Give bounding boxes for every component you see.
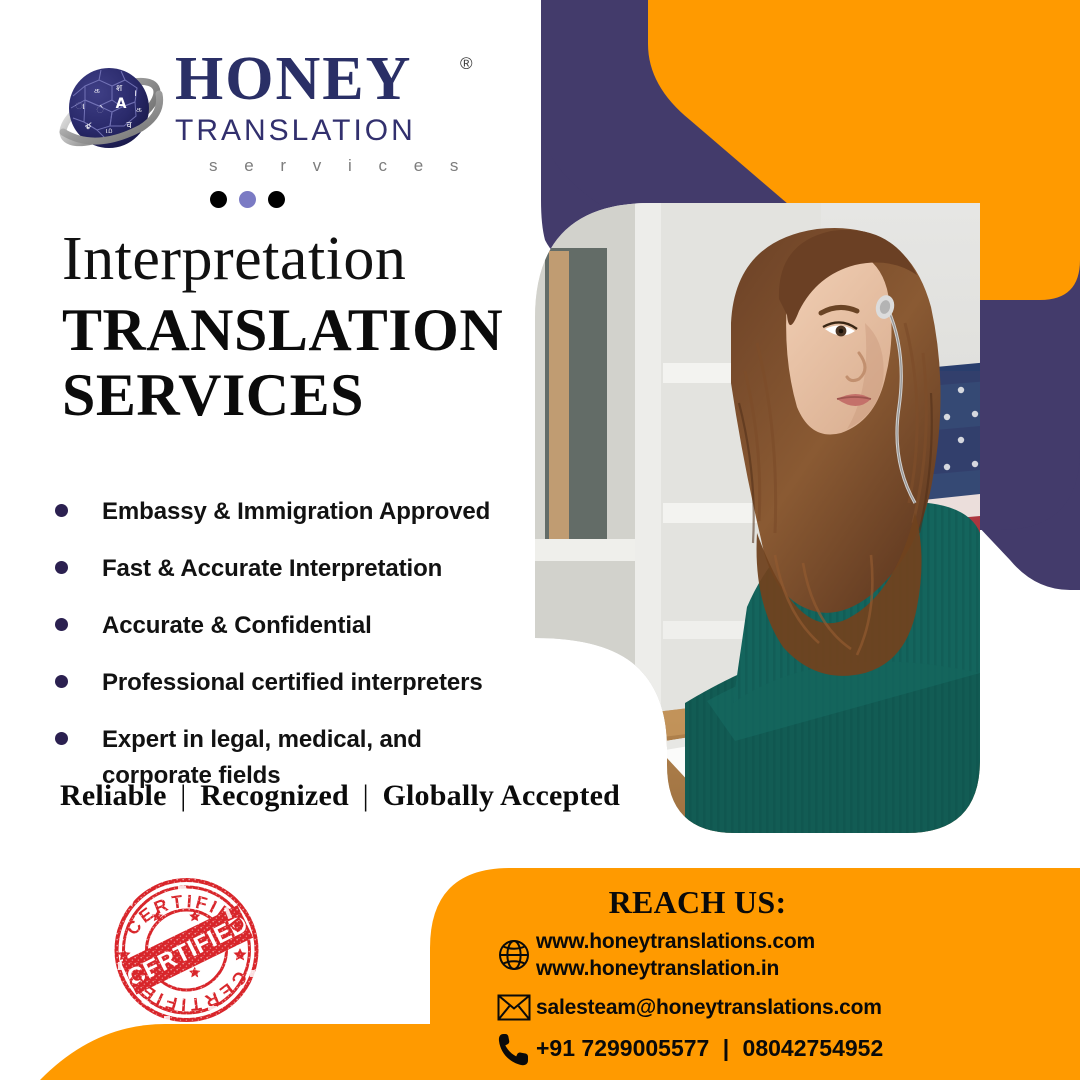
contact-row-phone[interactable]: +91 7299005577 | 08042754952 [492, 1032, 1072, 1066]
contact-row-website[interactable]: www.honeytranslations.com www.honeytrans… [492, 928, 1072, 983]
svg-text:ા: ા [75, 102, 84, 112]
headline-bold-line-2: SERVICES [62, 363, 532, 428]
decorative-dots-row [210, 191, 285, 208]
logo-wordmark: HONEY ® TRANSLATION s e r v i c e s [175, 48, 475, 176]
dot-3 [268, 191, 285, 208]
contact-row-email[interactable]: salesteam@honeytranslations.com [492, 994, 1072, 1021]
list-item: Accurate & Confidential [55, 608, 545, 644]
list-item: Fast & Accurate Interpretation [55, 551, 545, 587]
bullet-dot-icon [55, 504, 68, 517]
envelope-icon [492, 994, 536, 1021]
list-item-label: Fast & Accurate Interpretation [102, 551, 442, 587]
svg-text:ે: ે [96, 104, 103, 116]
phone-icon [492, 1032, 536, 1066]
poster-canvas: க श । ા ે A க ళ ம व HONEY ® TRANSLATION … [0, 0, 1080, 1080]
svg-text:A: A [116, 96, 127, 112]
logo-subtitle-services: s e r v i c e s [175, 156, 475, 176]
bullet-dot-icon [55, 675, 68, 688]
logo-name-translation: TRANSLATION [175, 112, 475, 150]
phone-separator: | [716, 1035, 736, 1061]
bullet-dot-icon [55, 618, 68, 631]
tagline-separator-1: | [174, 779, 192, 812]
svg-text:க: க [136, 105, 142, 115]
brand-logo[interactable]: க श । ા ે A க ళ ம व HONEY ® TRANSLATION … [55, 48, 475, 178]
list-item-label: Accurate & Confidential [102, 608, 372, 644]
bullet-dot-icon [55, 561, 68, 574]
tagline-part-1: Reliable [60, 779, 167, 812]
features-list: Embassy & Immigration Approved Fast & Ac… [55, 494, 545, 815]
logo-name-honey: HONEY [175, 48, 412, 110]
contact-list: www.honeytranslations.com www.honeytrans… [492, 928, 1072, 1077]
dot-1 [210, 191, 227, 208]
registered-trademark-icon: ® [460, 54, 501, 74]
svg-text:ம: ம [105, 126, 112, 136]
phone-numbers[interactable]: +91 7299005577 | 08042754952 [536, 1034, 883, 1064]
list-item: Professional certified interpreters [55, 665, 545, 701]
svg-text:க: க [94, 86, 100, 96]
dot-2 [239, 191, 256, 208]
certified-stamp: CERTIFIED CERTIFIED CERTIFIED [104, 866, 269, 1031]
svg-text:श: श [116, 84, 123, 94]
svg-text:।: । [133, 89, 136, 99]
list-item: Embassy & Immigration Approved [55, 494, 545, 530]
website-urls[interactable]: www.honeytranslations.com www.honeytrans… [536, 928, 815, 983]
phone-number-1[interactable]: +91 7299005577 [536, 1035, 709, 1061]
interpreter-photo [535, 203, 980, 833]
email-address[interactable]: salesteam@honeytranslations.com [536, 994, 882, 1021]
headline-bold-line-1: TRANSLATION [62, 298, 532, 363]
headline-block: Interpretation TRANSLATION SERVICES [62, 228, 532, 428]
headline-script-line: Interpretation [62, 228, 532, 290]
website-url-2[interactable]: www.honeytranslation.in [536, 957, 779, 980]
tagline-part-2: Recognized [200, 779, 349, 812]
website-url-1[interactable]: www.honeytranslations.com [536, 930, 815, 953]
globe-icon [492, 938, 536, 972]
tagline-part-3: Globally Accepted [382, 779, 620, 812]
tagline-separator-2: | [357, 779, 375, 812]
phone-number-2[interactable]: 08042754952 [743, 1035, 884, 1061]
tagline: Reliable | Recognized | Globally Accepte… [60, 779, 620, 813]
bullet-dot-icon [55, 732, 68, 745]
reach-us-heading: REACH US: [420, 884, 975, 921]
list-item-label: Embassy & Immigration Approved [102, 494, 490, 530]
globe-icon: க श । ા ે A க ళ ம व [55, 56, 165, 166]
list-item-label: Professional certified interpreters [102, 665, 483, 701]
